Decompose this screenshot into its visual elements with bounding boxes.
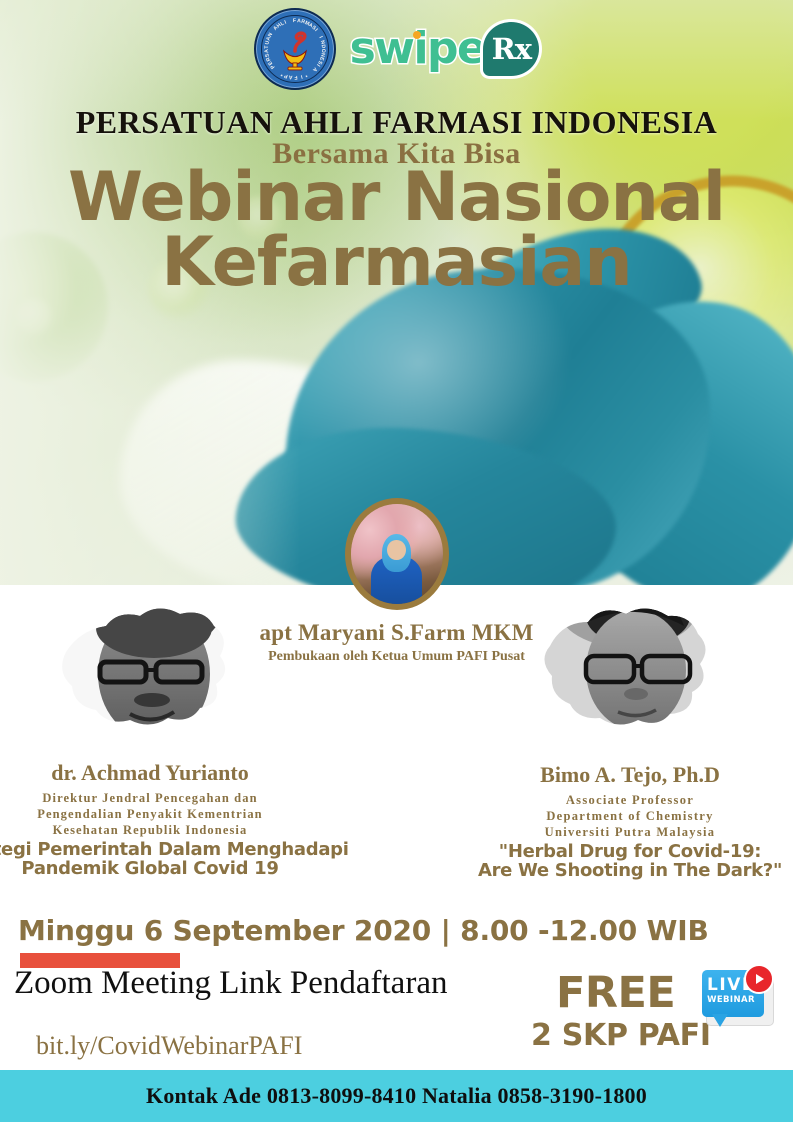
swiperx-dot-icon: [413, 31, 421, 39]
organization-name: PERSATUAN AHLI FARMASI INDONESIA: [0, 104, 793, 141]
swiperx-logo: swipe Rx: [350, 22, 540, 76]
speaker-right-name: Bimo A. Tejo, Ph.D: [480, 762, 780, 788]
speaker-right-topic: "Herbal Drug for Covid-19: Are We Shooti…: [465, 842, 793, 881]
event-platform-line: Zoom Meeting Link Pendaftaran: [14, 965, 447, 1002]
page-title: Webinar Nasional Kefarmasian: [0, 166, 793, 295]
contact-text: Kontak Ade 0813-8099-8410 Natalia 0858-3…: [146, 1083, 647, 1109]
live-webinar-badge: LIVE WEBINAR: [700, 968, 776, 1038]
price-label: FREE: [556, 968, 675, 1018]
logo-row: PERSATUAN AHLI FARMASI INDONESIA* P A F …: [0, 8, 793, 90]
title-line-2: Kefarmasian: [0, 231, 793, 296]
bowl-of-hygieia-icon: [274, 30, 316, 72]
speaker-left: dr. Achmad Yurianto Direktur Jendral Pen…: [0, 588, 300, 879]
credits-label: 2 SKP PAFI: [531, 1018, 711, 1053]
speaker-left-name: dr. Achmad Yurianto: [0, 760, 300, 786]
pafi-logo: PERSATUAN AHLI FARMASI INDONESIA* P A F …: [254, 8, 336, 90]
webinar-poster: PERSATUAN AHLI FARMASI INDONESIA* P A F …: [0, 0, 793, 1122]
swiperx-wordmark: swipe: [350, 27, 486, 71]
rx-label: Rx: [492, 35, 531, 64]
live-badge-webinar-text: WEBINAR: [700, 996, 762, 1005]
avatar: [345, 498, 449, 610]
speaker-left-affiliation: Direktur Jendral Pencegahan dan Pengenda…: [0, 790, 300, 838]
contact-bar: Kontak Ade 0813-8099-8410 Natalia 0858-3…: [0, 1070, 793, 1122]
event-datetime: Minggu 6 September 2020 | 8.00 -12.00 WI…: [18, 914, 709, 947]
brush-stroke-portrait-mask: [30, 588, 270, 758]
speaker-left-topic: Strategi Pemerintah Dalam Menghadapi Pan…: [0, 840, 350, 879]
play-icon: [744, 964, 774, 994]
live-badge-tail: [712, 1014, 728, 1027]
speaker-left-portrait: [30, 588, 270, 758]
registration-link[interactable]: bit.ly/CovidWebinarPAFI: [36, 1031, 302, 1061]
speaker-right: Bimo A. Tejo, Ph.D Associate Professor D…: [480, 588, 780, 881]
speaker-right-affiliation: Associate Professor Department of Chemis…: [480, 792, 780, 840]
brush-stroke-portrait-mask: [510, 588, 750, 758]
avatar-face: [387, 540, 405, 560]
rx-speech-bubble-icon: Rx: [483, 22, 539, 76]
speaker-right-portrait: [510, 588, 750, 758]
